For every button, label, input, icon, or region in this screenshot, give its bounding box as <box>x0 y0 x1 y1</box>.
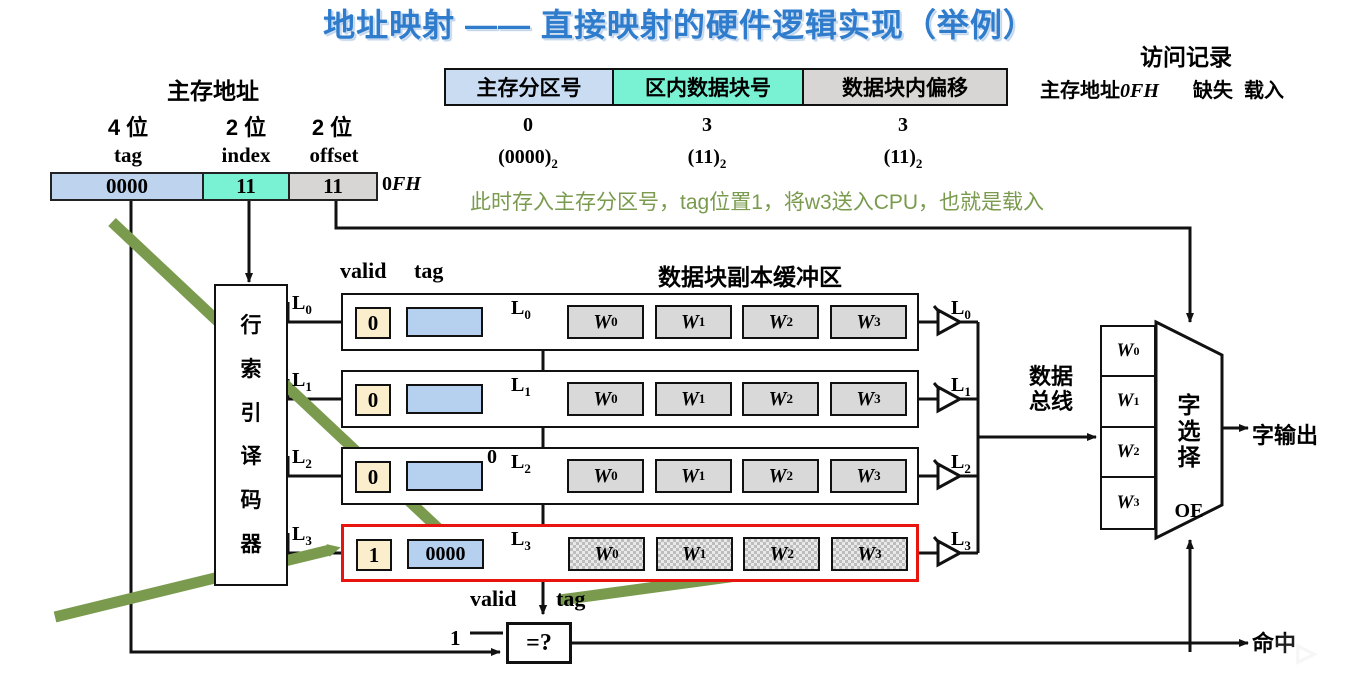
tag-field-l1 <box>406 384 483 414</box>
valid-bit-l1: 0 <box>355 384 391 416</box>
decoder-char-2: 索 <box>241 359 262 380</box>
tag-bitname: tag <box>80 143 176 168</box>
driver-label-l2: L2 <box>511 451 531 477</box>
decoder-char-4: 译 <box>241 446 262 467</box>
word-box-w2: W2 <box>743 537 820 571</box>
mux-char-2: 选 <box>1166 418 1212 444</box>
valid-bit-l2: 0 <box>355 461 391 493</box>
title-dash: —— <box>465 7 531 43</box>
cache-row-l0[interactable]: 0 W0 W1 W2 W3 <box>341 293 919 351</box>
word-box-w1: W1 <box>656 537 733 571</box>
decoder-char-5: 码 <box>241 490 262 511</box>
offset-bitname: offset <box>284 143 384 168</box>
offset-bitcount: 2 位 <box>284 110 380 142</box>
word-box-w1: W1 <box>655 305 732 339</box>
word-select-input-w0: W0 <box>1102 327 1154 377</box>
word-group-l0: W0 W1 W2 W3 <box>567 305 907 341</box>
address-segment-tag: 0000 <box>52 174 204 199</box>
decoder-out-label-l3: L3 <box>292 523 312 549</box>
data-driver-label-l2: L2 <box>951 451 971 477</box>
mux-char-1: 字 <box>1166 392 1212 418</box>
access-record-status-load: 载入 <box>1244 80 1284 102</box>
word-input-stack: W0 W1 W2 W3 <box>1100 325 1156 530</box>
data-bus-label-line1: 数据 <box>1012 365 1090 390</box>
data-block-buffer-heading: 数据块副本缓冲区 <box>600 258 900 292</box>
access-record-prefix: 主存地址 <box>1040 80 1120 102</box>
address-hex-value: 0FH <box>382 173 421 196</box>
index-bitname: index <box>196 143 296 168</box>
word-select-input-w3: W3 <box>1102 478 1154 528</box>
word-group-l2: W0 W1 W2 W3 <box>567 459 907 495</box>
word-select-input-w1: W1 <box>1102 377 1154 427</box>
word-box-w3: W3 <box>831 537 908 571</box>
word-box-w2: W2 <box>742 382 819 416</box>
access-record-heading: 访问记录 <box>1140 38 1232 72</box>
address-segment-index: 11 <box>204 174 290 199</box>
decoder-char-1: 行 <box>241 315 262 336</box>
word-box-w3: W3 <box>830 382 907 416</box>
data-bus-label: 数据 总线 <box>1012 365 1090 414</box>
word-box-w0: W0 <box>567 459 644 493</box>
decoder-char-6: 器 <box>241 534 262 555</box>
data-driver-label-l3: L3 <box>951 528 971 554</box>
data-driver-label-l1: L1 <box>951 374 971 400</box>
mux-char-3: 择 <box>1166 444 1212 470</box>
access-record-hex: 0FH <box>1120 80 1159 102</box>
word-box-w0: W0 <box>568 537 645 571</box>
decoder-out-label-l0: L0 <box>292 292 312 318</box>
decoder-char-3: 引 <box>241 403 262 424</box>
driver-label-l0: L0 <box>511 297 531 323</box>
address-segment-offset: 11 <box>290 174 376 199</box>
caption-valid-top: valid <box>340 258 386 284</box>
field-header-blocknum: 区内数据块号 <box>614 70 804 104</box>
caption-tag-bottom: tag <box>556 586 585 612</box>
index-bitcount: 2 位 <box>198 110 294 142</box>
field-value-blocknum: 3 <box>612 114 802 137</box>
comparator-input-one: 1 <box>450 626 461 651</box>
cache-row-l3[interactable]: 1 0000 W0 W1 W2 W3 <box>341 524 919 582</box>
driver-extra-zero-l2: 0 <box>487 446 497 469</box>
row-index-decoder: 行 索 引 译 码 器 <box>214 284 288 586</box>
address-bitfield-bar: 0000 11 11 <box>50 172 378 201</box>
word-box-w0: W0 <box>567 305 644 339</box>
word-output-label: 字输出 <box>1252 418 1318 450</box>
access-record-status-miss: 缺失 <box>1193 80 1233 102</box>
main-memory-address-heading: 主存地址 <box>133 72 293 106</box>
data-bus-label-line2: 总线 <box>1012 390 1090 415</box>
valid-bit-l3: 1 <box>356 539 392 571</box>
mux-oe-label: OE <box>1166 500 1212 523</box>
diagram-canvas: 地址映射 —— 直接映射的硬件逻辑实现（举例） 主存地址 4 位 2 位 2 位… <box>0 0 1359 685</box>
valid-bit-l0: 0 <box>355 307 391 339</box>
word-group-l1: W0 W1 W2 W3 <box>567 382 907 418</box>
word-box-w3: W3 <box>830 459 907 493</box>
cache-row-l1[interactable]: 0 W0 W1 W2 W3 <box>341 370 919 428</box>
word-box-w1: W1 <box>655 459 732 493</box>
access-record-line: 主存地址0FH缺失 载入 <box>1040 74 1284 103</box>
field-value-offset: 3 <box>802 114 1004 137</box>
watermark-logo <box>1271 619 1337 677</box>
word-group-l3: W0 W1 W2 W3 <box>568 537 908 573</box>
decoder-out-label-l1: L1 <box>292 369 312 395</box>
tag-field-l0 <box>406 307 483 337</box>
word-box-w1: W1 <box>655 382 732 416</box>
tag-field-l2 <box>406 461 483 491</box>
field-header-offset: 数据块内偏移 <box>804 70 1006 104</box>
data-driver-label-l0: L0 <box>951 297 971 323</box>
driver-label-l3: L3 <box>511 528 531 554</box>
field-header-partition: 主存分区号 <box>446 70 614 104</box>
word-select-input-w2: W2 <box>1102 428 1154 478</box>
caption-tag-top: tag <box>414 258 443 284</box>
tag-field-l3: 0000 <box>407 539 484 569</box>
word-box-w2: W2 <box>742 305 819 339</box>
green-annotation-note: 此时存入主存分区号，tag位置1，将w3送入CPU，也就是载入 <box>470 186 1044 216</box>
field-binary-blocknum: (11)2 <box>612 146 802 172</box>
driver-label-l1: L1 <box>511 374 531 400</box>
caption-valid-bottom: valid <box>470 586 516 612</box>
cache-row-l2[interactable]: 0 W0 W1 W2 W3 <box>341 447 919 505</box>
word-box-w3: W3 <box>830 305 907 339</box>
address-fields-table: 主存分区号 区内数据块号 数据块内偏移 <box>444 68 1008 106</box>
title-main: 地址映射 <box>323 7 455 43</box>
word-box-w2: W2 <box>742 459 819 493</box>
tag-bitcount: 4 位 <box>80 110 176 142</box>
word-select-mux-label: 字 选 择 <box>1166 392 1212 471</box>
tag-comparator: =? <box>506 622 572 664</box>
field-value-partition: 0 <box>444 114 612 137</box>
decoder-out-label-l2: L2 <box>292 446 312 472</box>
field-binary-partition: (0000)2 <box>444 146 612 172</box>
title-sub: 直接映射的硬件逻辑实现（举例） <box>541 7 1036 43</box>
word-box-w0: W0 <box>567 382 644 416</box>
field-binary-offset: (11)2 <box>802 146 1004 172</box>
